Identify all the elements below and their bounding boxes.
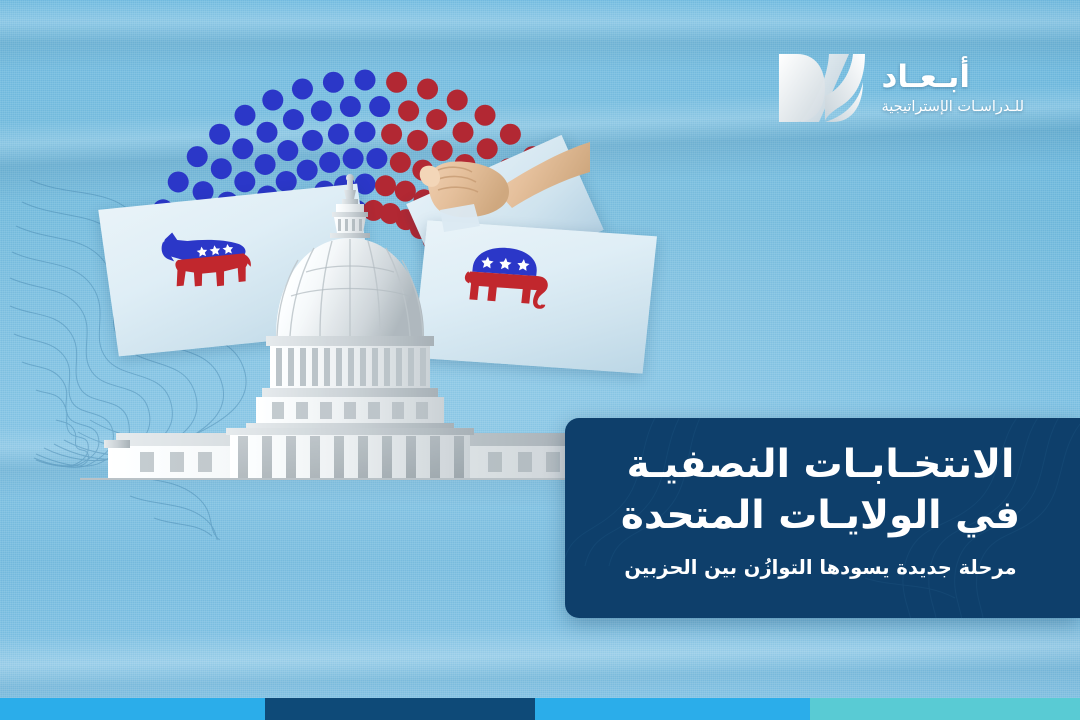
bottom-color-bar: [0, 698, 1080, 720]
seat-dot-republican: [398, 100, 419, 121]
seat-dot-republican: [475, 105, 496, 126]
seat-dot-democrat: [302, 130, 323, 151]
seat-dot-democrat: [234, 105, 255, 126]
seat-dot-democrat: [232, 138, 253, 159]
seat-dot-democrat: [209, 124, 230, 145]
brand-name: أبـعـاد: [881, 62, 970, 93]
seat-dot-republican: [417, 78, 438, 99]
seat-dot-democrat: [355, 122, 376, 143]
seat-dot-democrat: [355, 70, 376, 91]
seat-dot-republican: [386, 72, 407, 93]
poster-canvas: أبـعـاد للـدراسـات الإستراتيجية: [0, 0, 1080, 720]
seat-dot-democrat: [328, 124, 349, 145]
seat-dot-democrat: [292, 78, 313, 99]
seat-dot-republican: [381, 124, 402, 145]
seat-dot-republican: [447, 90, 468, 111]
seat-dot-democrat: [369, 96, 390, 117]
brand-logo[interactable]: أبـعـاد للـدراسـات الإستراتيجية: [775, 52, 1024, 124]
seat-dot-democrat: [262, 90, 283, 111]
subtitle: مرحلة جديدة يسودها التوازُن بين الحزبين: [595, 556, 1046, 579]
brand-tagline: للـدراسـات الإستراتيجية: [881, 100, 1024, 115]
segment-navy: [265, 698, 535, 720]
segment-sky-2: [0, 698, 265, 720]
seat-dot-democrat: [323, 72, 344, 93]
segment-sky: [535, 698, 810, 720]
seat-dot-democrat: [340, 96, 361, 117]
brand-logo-wordmark: أبـعـاد للـدراسـات الإستراتيجية: [881, 62, 1024, 115]
abaad-monogram-icon: [775, 52, 867, 124]
title-line-2: في الولايـات المتحدة: [595, 491, 1046, 542]
seat-dot-democrat: [257, 122, 278, 143]
hand-casting-ballot: [400, 128, 590, 248]
title-line-1: الانتخـابـات النصفيـة: [595, 440, 1046, 491]
seat-dot-democrat: [311, 100, 332, 121]
seat-dot-democrat: [277, 140, 298, 161]
title-panel: الانتخـابـات النصفيـة في الولايـات المتح…: [565, 418, 1080, 618]
seat-dot-republican: [426, 109, 447, 130]
title-block: الانتخـابـات النصفيـة في الولايـات المتح…: [565, 418, 1080, 579]
segment-teal: [810, 698, 1080, 720]
seat-dot-democrat: [283, 109, 304, 130]
